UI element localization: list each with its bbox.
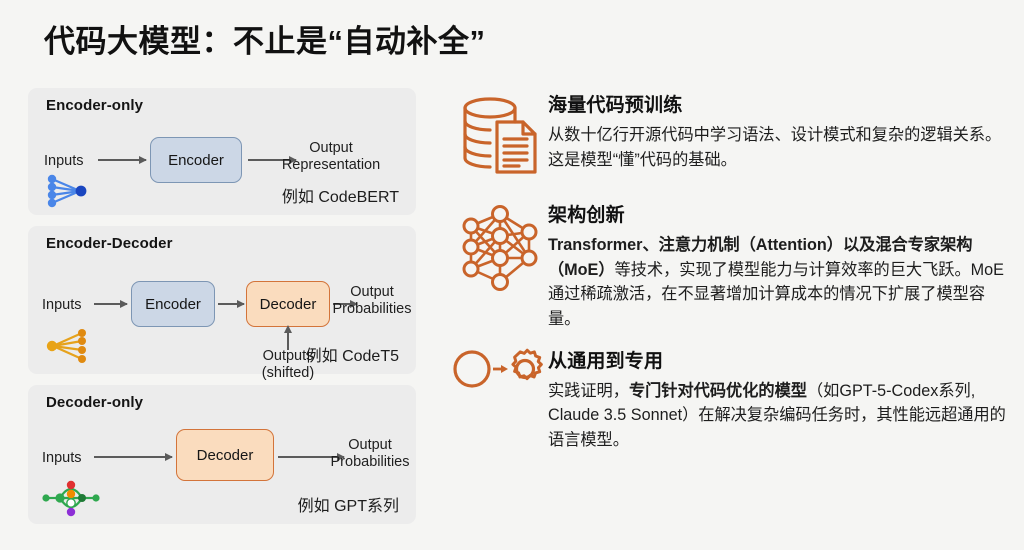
encoder-block: Encoder xyxy=(150,137,242,183)
architecture-card-encoder-decoder: Encoder-Decoder Inputs Encoder Decoder O… xyxy=(28,226,416,374)
example-label: 例如 GPT系列 xyxy=(298,492,399,516)
output-probabilities-label: Output Probabilities xyxy=(326,437,414,471)
feature-title: 架构创新 xyxy=(548,200,1012,227)
output-line-1: Output xyxy=(309,140,353,156)
output-line-1: Output xyxy=(348,437,392,453)
card-title: Encoder-only xyxy=(46,97,143,114)
feature-body: 架构创新 Transformer、注意力机制（Attention）以及混合专家架… xyxy=(548,198,1012,332)
database-document-icon xyxy=(452,88,548,184)
output-representation-label: Output Representation xyxy=(276,140,386,174)
circle-arrow-gear-icon xyxy=(452,344,548,440)
output-probabilities-label: Output Probabilities xyxy=(328,284,416,318)
feature-title: 从通用到专用 xyxy=(548,346,1012,373)
arrow-inputs-to-encoder xyxy=(94,303,127,305)
feature-specialization: 从通用到专用 实践证明，专门针对代码优化的模型（如GPT-5-Codex系列, … xyxy=(452,344,1012,453)
feature-list: 海量代码预训练 从数十亿行开源代码中学习语法、设计模式和复杂的逻辑关系。这是模型… xyxy=(452,88,1012,452)
converging-nodes-icon xyxy=(40,171,96,211)
output-line-2: Representation xyxy=(282,157,380,173)
output-line-2: Probabilities xyxy=(333,301,412,317)
lens-network-icon xyxy=(38,478,104,518)
decoder-block: Decoder xyxy=(246,281,330,327)
output-line-1: Output xyxy=(350,284,394,300)
feature-body: 海量代码预训练 从数十亿行开源代码中学习语法、设计模式和复杂的逻辑关系。这是模型… xyxy=(548,88,1012,172)
feature-text: 实践证明，专门针对代码优化的模型（如GPT-5-Codex系列, Claude … xyxy=(548,379,1012,453)
example-label: 例如 CodeBERT xyxy=(282,183,399,207)
inputs-label: Inputs xyxy=(44,153,84,170)
output-line-2: Probabilities xyxy=(331,454,410,470)
architecture-card-list: Encoder-only Inputs Encoder Output Repre… xyxy=(28,88,416,535)
feature-architecture: 架构创新 Transformer、注意力机制（Attention）以及混合专家架… xyxy=(452,198,1012,332)
feature-text: Transformer、注意力机制（Attention）以及混合专家架构（MoE… xyxy=(548,233,1012,332)
card-title: Decoder-only xyxy=(46,394,143,411)
arrow-inputs-to-encoder xyxy=(98,159,146,161)
arrow-encoder-to-decoder xyxy=(218,303,244,305)
decoder-block: Decoder xyxy=(176,429,274,481)
feature-title: 海量代码预训练 xyxy=(548,90,1012,117)
inputs-label: Inputs xyxy=(42,450,82,467)
slide-root: 代码大模型：不止是“自动补全” Encoder-only Inputs Enco… xyxy=(0,0,1024,550)
encoder-block: Encoder xyxy=(131,281,215,327)
architecture-card-decoder-only: Decoder-only Inputs Decoder Output Proba… xyxy=(28,385,416,524)
inputs-label: Inputs xyxy=(42,297,82,314)
neural-network-icon xyxy=(452,198,548,294)
shifted-line-2: (shifted) xyxy=(262,365,314,381)
feature-text: 从数十亿行开源代码中学习语法、设计模式和复杂的逻辑关系。这是模型“懂”代码的基础… xyxy=(548,123,1012,172)
diverging-nodes-icon xyxy=(40,326,96,366)
feature-body: 从通用到专用 实践证明，专门针对代码优化的模型（如GPT-5-Codex系列, … xyxy=(548,344,1012,453)
arrow-inputs-to-decoder xyxy=(94,456,172,458)
example-label: 例如 CodeT5 xyxy=(306,342,399,366)
architecture-card-encoder-only: Encoder-only Inputs Encoder Output Repre… xyxy=(28,88,416,215)
feature-pretraining: 海量代码预训练 从数十亿行开源代码中学习语法、设计模式和复杂的逻辑关系。这是模型… xyxy=(452,88,1012,184)
page-title: 代码大模型：不止是“自动补全” xyxy=(44,16,486,61)
card-title: Encoder-Decoder xyxy=(46,235,173,252)
